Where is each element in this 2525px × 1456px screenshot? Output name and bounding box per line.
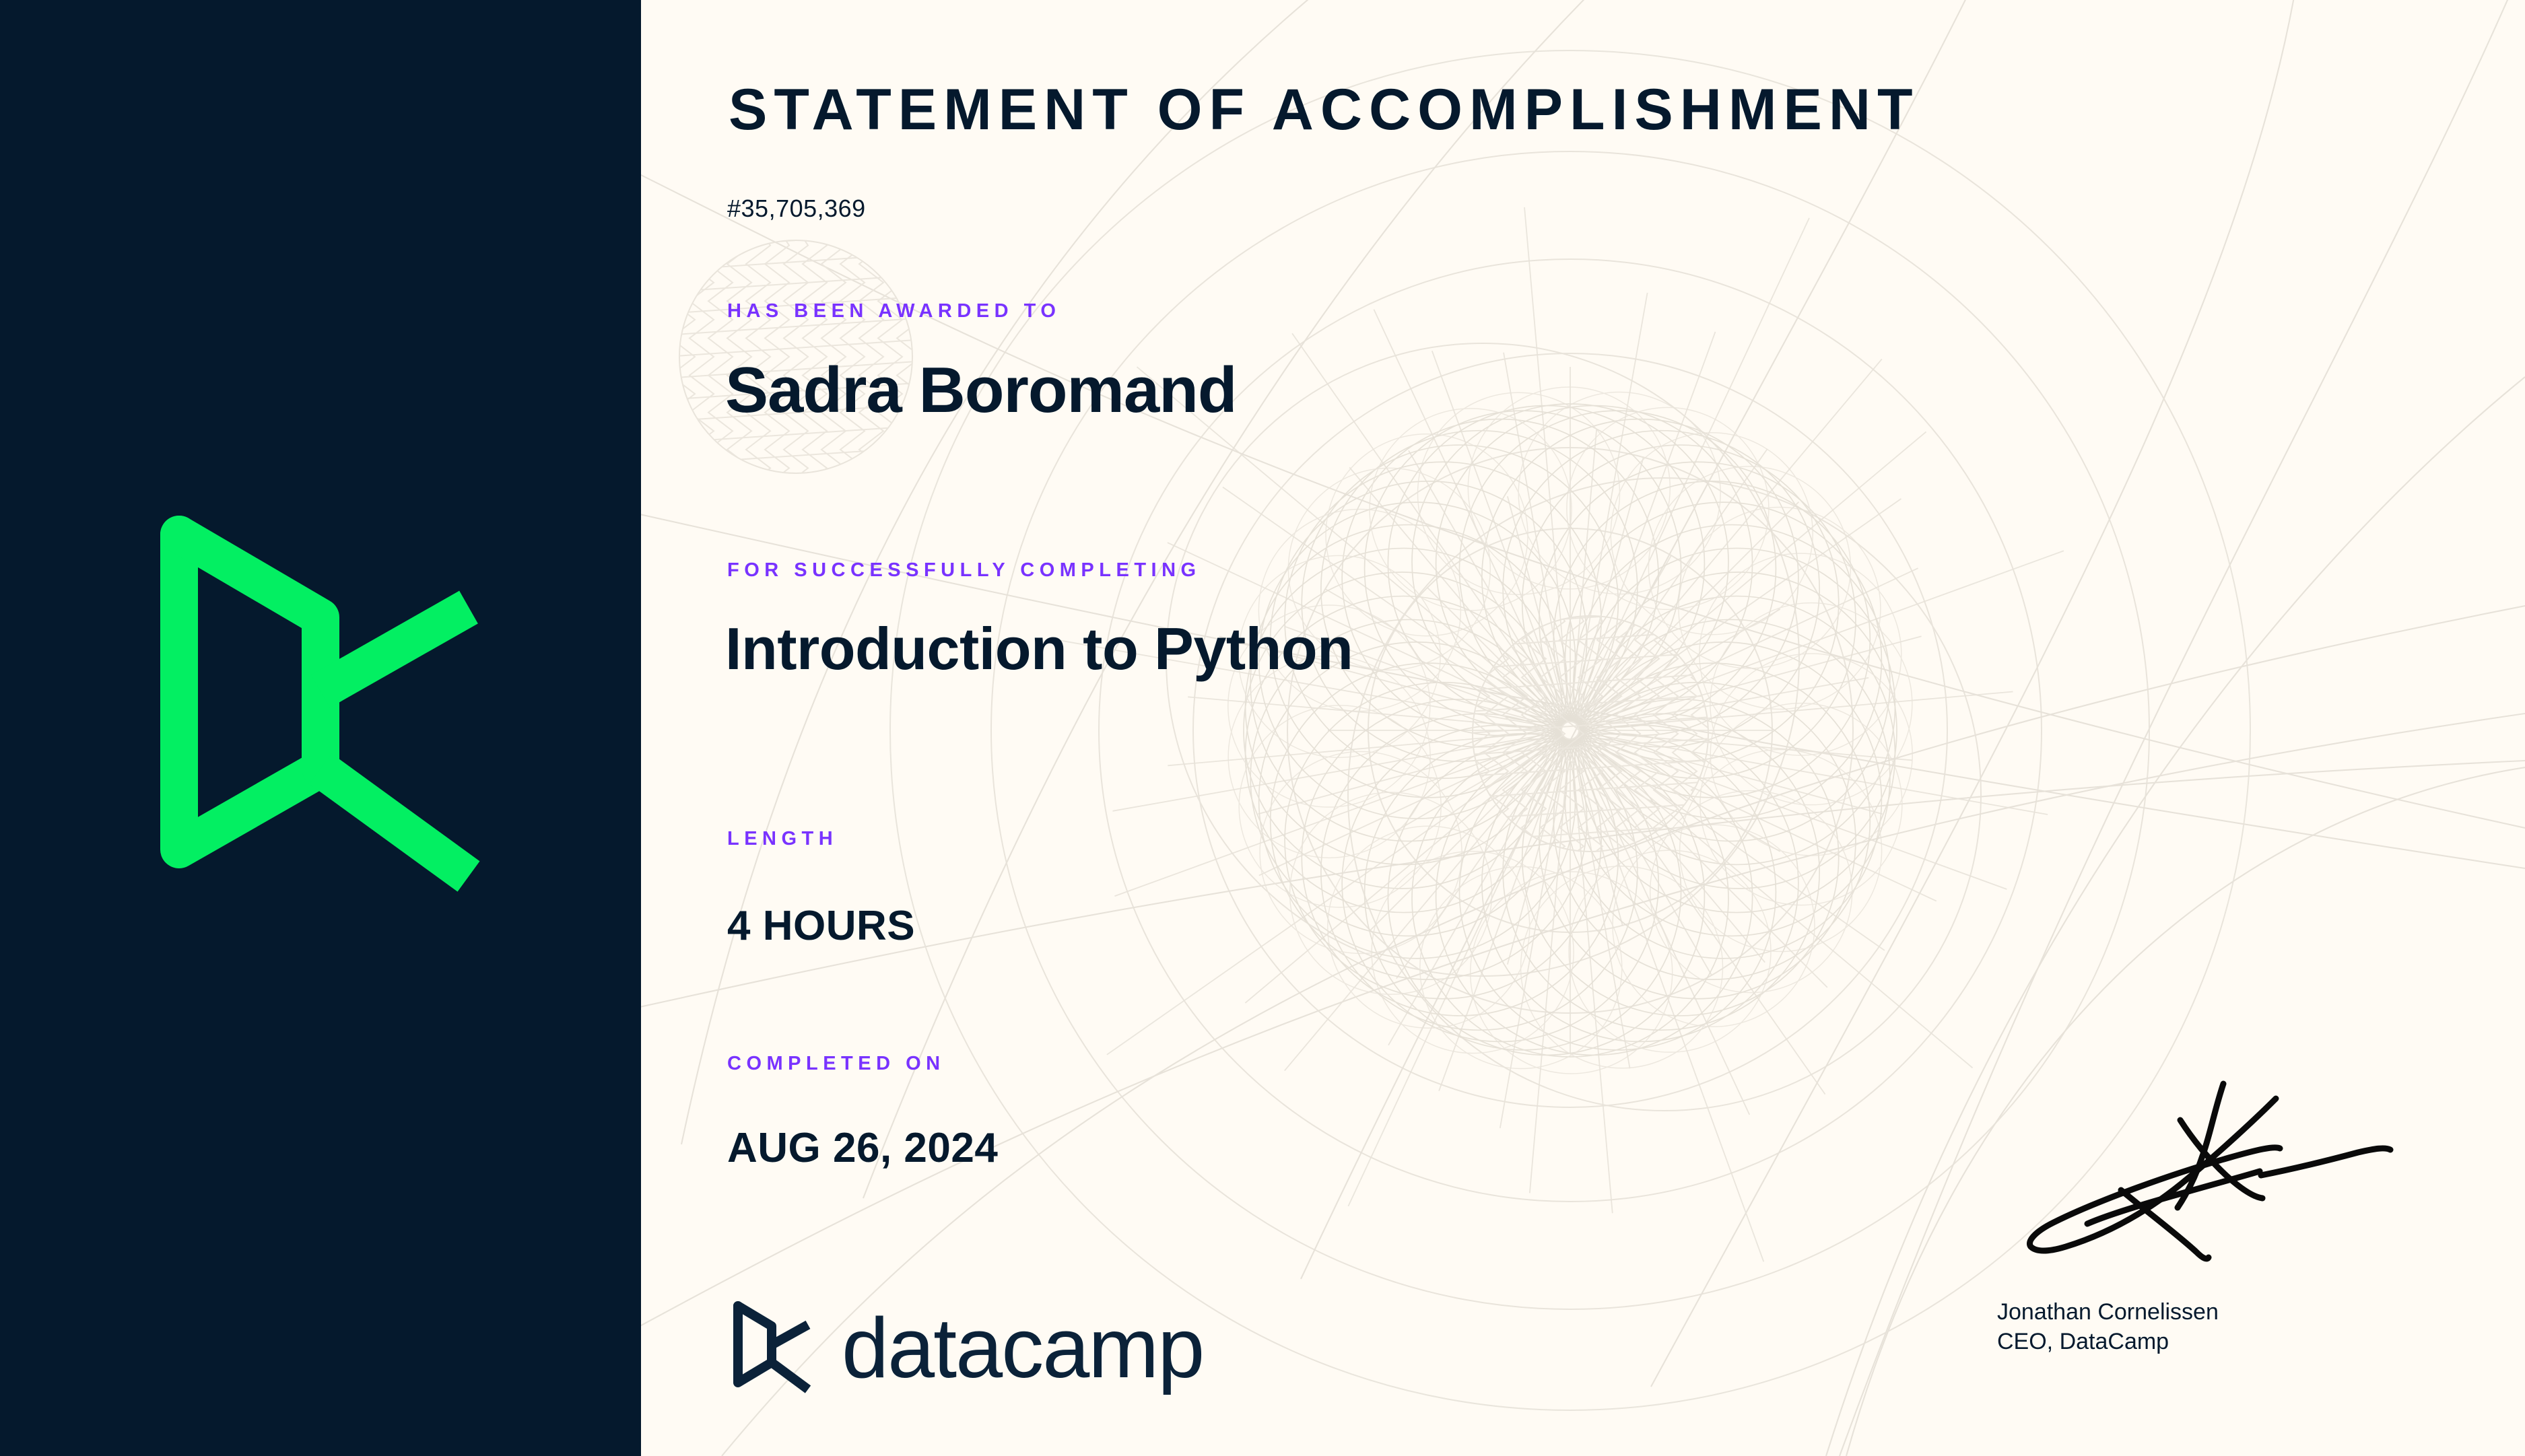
datacamp-wordmark-icon: datacamp [729, 1298, 1227, 1397]
signature-icon [1986, 1064, 2404, 1266]
completed-on-label: COMPLETED ON [727, 1054, 945, 1074]
signatory-name: Jonathan Cornelissen [1997, 1298, 2219, 1327]
length-value: 4 HOURS [727, 905, 915, 947]
completing-label: FOR SUCCESSFULLY COMPLETING [727, 561, 1201, 580]
awarded-to-label: HAS BEEN AWARDED TO [727, 302, 1060, 321]
recipient-name: Sadra Boromand [725, 358, 1236, 423]
certificate-content: STATEMENT OF ACCOMPLISHMENT #35,705,369 … [0, 0, 2525, 1456]
certificate-id: #35,705,369 [727, 197, 866, 221]
certificate: STATEMENT OF ACCOMPLISHMENT #35,705,369 … [0, 0, 2525, 1456]
completed-on-value: AUG 26, 2024 [727, 1128, 998, 1169]
page-title: STATEMENT OF ACCOMPLISHMENT [729, 81, 1920, 139]
wordmark-text: datacamp [842, 1301, 1203, 1395]
length-label: LENGTH [727, 829, 838, 849]
signatory-role: CEO, DataCamp [1997, 1327, 2219, 1357]
signatory-block: Jonathan Cornelissen CEO, DataCamp [1997, 1298, 2219, 1356]
course-name: Introduction to Python [725, 619, 1353, 679]
